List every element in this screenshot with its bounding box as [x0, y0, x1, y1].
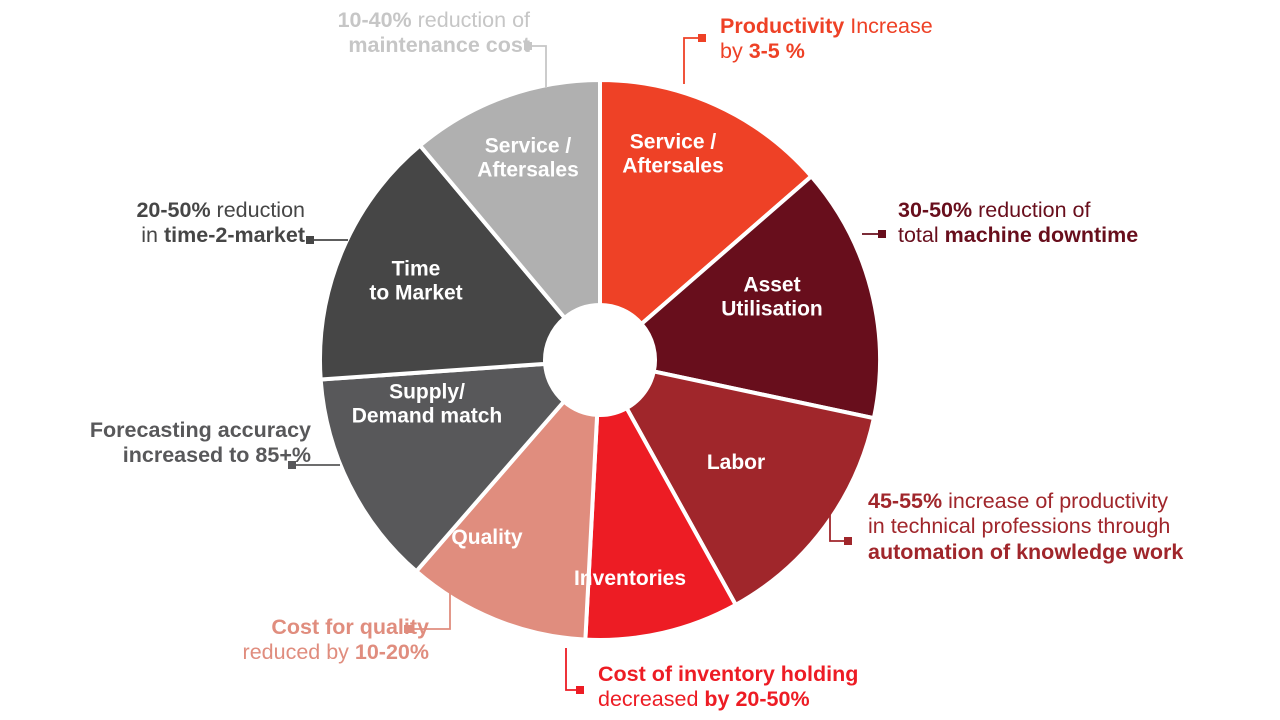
callout-text: reduction	[211, 198, 305, 222]
callout-machine-downtime: 30-50% reduction oftotal machine downtim…	[898, 198, 1138, 249]
callout-knowledge-work: 45-55% increase of productivityin techni…	[868, 489, 1183, 565]
leader-line-inventory-holding	[566, 648, 580, 690]
callout-line: by 3-5 %	[720, 39, 933, 64]
callout-emphasis: Forecasting accuracy	[90, 418, 311, 442]
callout-emphasis: increased to 85+%	[123, 443, 311, 467]
callout-emphasis: 20-50%	[136, 198, 210, 222]
leader-line-maintenance-cost	[528, 46, 546, 88]
callout-text: in technical professions through	[868, 514, 1170, 538]
callout-emphasis: maintenance cost	[348, 33, 530, 57]
callout-line: Forecasting accuracy	[0, 418, 311, 443]
infographic-canvas: Service / AftersalesAsset UtilisationLab…	[0, 0, 1280, 720]
leader-dot-knowledge-work	[844, 537, 852, 545]
callout-emphasis: Cost of inventory holding	[598, 662, 858, 686]
donut-slices	[320, 80, 880, 640]
leader-dot-productivity	[698, 34, 706, 42]
callout-emphasis: Cost for quality	[271, 615, 429, 639]
callout-line: total machine downtime	[898, 223, 1138, 248]
callout-emphasis: Productivity	[720, 14, 844, 38]
callout-line: 20-50% reduction	[0, 198, 305, 223]
callout-line: automation of knowledge work	[868, 540, 1183, 565]
callout-emphasis: machine downtime	[945, 223, 1139, 247]
callout-line: 10-40% reduction of	[0, 8, 530, 33]
callout-emphasis: 3-5 %	[749, 39, 805, 63]
leader-line-productivity	[684, 38, 702, 84]
callout-maintenance-cost: 10-40% reduction ofmaintenance cost	[0, 8, 530, 59]
callout-line: 30-50% reduction of	[898, 198, 1138, 223]
donut-chart	[0, 0, 1280, 720]
callout-text: reduction of	[412, 8, 530, 32]
callout-line: in technical professions through	[868, 514, 1183, 539]
callout-text: in	[141, 223, 164, 247]
callout-emphasis: by 20-50%	[704, 687, 809, 711]
leader-dot-time-2-market	[306, 236, 314, 244]
callout-emphasis: 45-55%	[868, 489, 942, 513]
callout-emphasis: 10-20%	[355, 640, 429, 664]
callout-emphasis: automation of knowledge work	[868, 540, 1183, 564]
callout-text: increase of productivity	[942, 489, 1168, 513]
callout-line: Cost for quality	[0, 615, 429, 640]
callout-line: 45-55% increase of productivity	[868, 489, 1183, 514]
callout-line: increased to 85+%	[0, 443, 311, 468]
leader-dot-machine-downtime	[878, 230, 886, 238]
callout-emphasis: 30-50%	[898, 198, 972, 222]
callout-text: total	[898, 223, 945, 247]
callout-inventory-holding: Cost of inventory holdingdecreased by 20…	[598, 662, 858, 713]
callout-emphasis: 10-40%	[338, 8, 412, 32]
callout-line: Productivity Increase	[720, 14, 933, 39]
callout-text: by	[720, 39, 749, 63]
callout-text: decreased	[598, 687, 704, 711]
callout-line: decreased by 20-50%	[598, 687, 858, 712]
callout-productivity: Productivity Increaseby 3-5 %	[720, 14, 933, 65]
callout-text: reduction of	[972, 198, 1090, 222]
callout-forecasting-accuracy: Forecasting accuracyincreased to 85+%	[0, 418, 311, 469]
callout-emphasis: time-2-market	[164, 223, 305, 247]
callout-text: Increase	[844, 14, 932, 38]
callout-time-2-market: 20-50% reductionin time-2-market	[0, 198, 305, 249]
callout-text: reduced by	[243, 640, 355, 664]
callout-line: Cost of inventory holding	[598, 662, 858, 687]
callout-line: maintenance cost	[0, 33, 530, 58]
callout-line: reduced by 10-20%	[0, 640, 429, 665]
callout-cost-for-quality: Cost for qualityreduced by 10-20%	[0, 615, 429, 666]
leader-dot-inventory-holding	[576, 686, 584, 694]
callout-line: in time-2-market	[0, 223, 305, 248]
